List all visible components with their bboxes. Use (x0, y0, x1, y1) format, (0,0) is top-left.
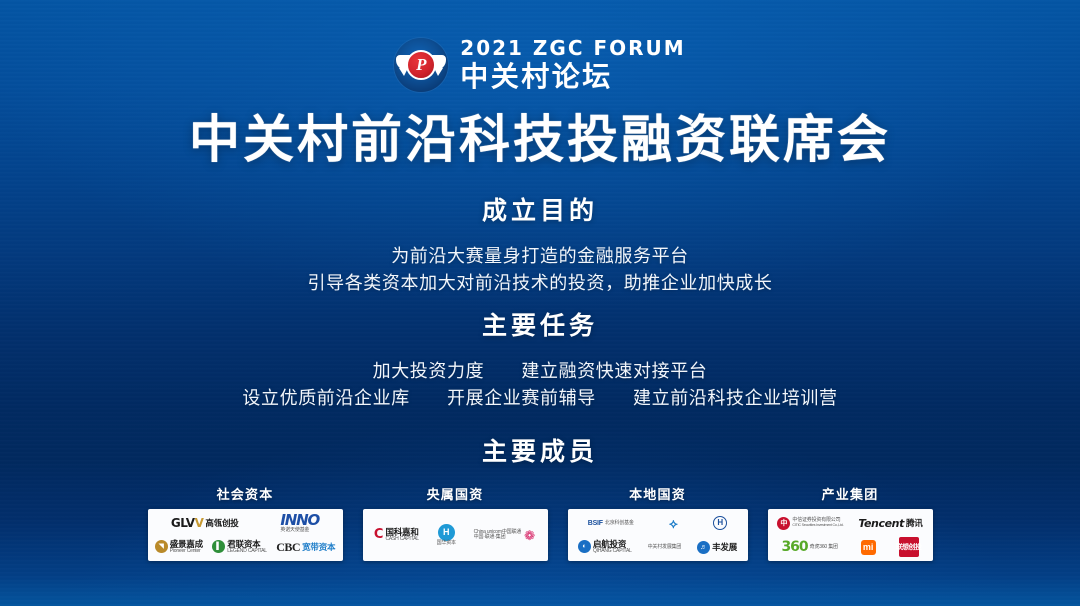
section-tasks-line-2: 设立优质前沿企业库 开展企业赛前辅导 建立前沿科技企业培训营 (0, 385, 1080, 412)
bsif-logo: BSIF 北京科创基金 (588, 520, 634, 527)
glv-logo: GLVV 高瓴创投 (171, 517, 239, 529)
brand-english-title: 2021 ZGC FORUM (460, 38, 685, 59)
section-tasks-line-1: 加大投资力度 建立融资快速对接平台 (0, 358, 1080, 385)
lenovo-capital-logo: 联想创投 (899, 537, 919, 557)
qihang-mark-icon: ◐ (578, 540, 591, 553)
member-group-social-capital: 社会资本 GLVV 高瓴创投 INNO 英诺天使基金 (148, 484, 343, 561)
zgc-development-logo: 中关村发展集团 (648, 545, 682, 550)
citic-mark-icon: 中 (777, 517, 790, 530)
member-group-central-soe: 央属国资 C 国科嘉和 CASH CAPITAL H 国华资本 (363, 484, 548, 561)
section-purpose-line-2: 引导各类资本加大对前沿技术的投资，助推企业加快成长 (0, 270, 1080, 297)
zgc-dev-swoosh-icon: ⟡ (669, 517, 678, 530)
guohua-capital-logo: H 国华资本 (437, 524, 456, 546)
xiaomi-logo: mi (861, 540, 876, 555)
h-ring-logo: H (713, 516, 727, 530)
section-members: 主要成员 (0, 437, 1080, 467)
member-group-label: 社会资本 (217, 484, 274, 503)
member-group-local-soe: 本地国资 BSIF 北京科创基金 ⟡ H ◐ 启航投 (568, 484, 748, 561)
qihang-capital-logo: ◐ 启航投资 QIHANG CAPITAL (578, 540, 632, 554)
unicom-flower-icon: ❁ (523, 529, 536, 542)
legend-mark-icon: ▌ (212, 540, 225, 553)
section-tasks: 主要任务 加大投资力度 建立融资快速对接平台 设立优质前沿企业库 开展企业赛前辅… (0, 311, 1080, 413)
legend-capital-logo: ▌ 君联资本 LEGEND CAPITAL (212, 540, 267, 554)
shengjing-mark-icon: ◥ (155, 540, 168, 553)
fengtai-development-logo: ♬ 丰发展 (697, 541, 737, 554)
shengjing-jiacheng-logo: ◥ 盛景嘉成 Pioneer Center (155, 540, 203, 554)
cbc-logo: CBC 宽带资本 (276, 541, 335, 553)
qihoo-360-logo: 360 奇虎360 集团 (781, 540, 837, 554)
member-logo-card: C 国科嘉和 CASH CAPITAL H 国华资本 (363, 509, 548, 561)
emblem-red-disc: P (406, 50, 436, 80)
poster-canvas: P 2021 ZGC FORUM 中关村论坛 中关村前沿科技投融资联席会 成立目… (0, 0, 1080, 606)
member-logo-card: BSIF 北京科创基金 ⟡ H ◐ 启航投资 QIHANG CAPITAL (568, 509, 748, 561)
brand-chinese-title: 中关村论坛 (460, 61, 613, 92)
member-group-label: 产业集团 (822, 484, 879, 503)
member-logo-card: 中 中信证券投资有限公司 CITIC Securities Investment… (768, 509, 933, 561)
inno-logo: INNO 英诺天使基金 (280, 513, 319, 534)
page-title: 中关村前沿科技投融资联席会 (0, 112, 1080, 168)
fengtai-mark-icon: ♬ (697, 541, 710, 554)
section-members-heading: 主要成员 (0, 437, 1080, 467)
section-tasks-heading: 主要任务 (0, 311, 1080, 341)
forum-brand-lockup: P 2021 ZGC FORUM 中关村论坛 (0, 38, 1080, 92)
section-purpose-line-1: 为前沿大赛量身打造的金融服务平台 (0, 243, 1080, 270)
member-group-industry: 产业集团 中 中信证券投资有限公司 CITIC Securities Inves… (768, 484, 933, 561)
member-group-label: 央属国资 (427, 484, 484, 503)
emblem-letter: P (416, 56, 426, 73)
zgc-forum-emblem-icon: P (394, 38, 448, 92)
tencent-logo: Tencent 腾讯 (858, 518, 922, 529)
section-purpose: 成立目的 为前沿大赛量身打造的金融服务平台 引导各类资本加大对前沿技术的投资，助… (0, 196, 1080, 298)
china-unicom-logo: China unicom中国联通 中国·联通·集团 ❁ (474, 529, 536, 542)
cash-capital-logo: C 国科嘉和 CASH CAPITAL (374, 528, 419, 542)
section-purpose-heading: 成立目的 (0, 196, 1080, 226)
citic-securities-logo: 中 中信证券投资有限公司 CITIC Securities Investment… (777, 517, 843, 530)
member-logo-card: GLVV 高瓴创投 INNO 英诺天使基金 ◥ 盛景嘉成 (148, 509, 343, 561)
member-groups-row: 社会资本 GLVV 高瓴创投 INNO 英诺天使基金 (0, 484, 1080, 561)
member-group-label: 本地国资 (629, 484, 686, 503)
